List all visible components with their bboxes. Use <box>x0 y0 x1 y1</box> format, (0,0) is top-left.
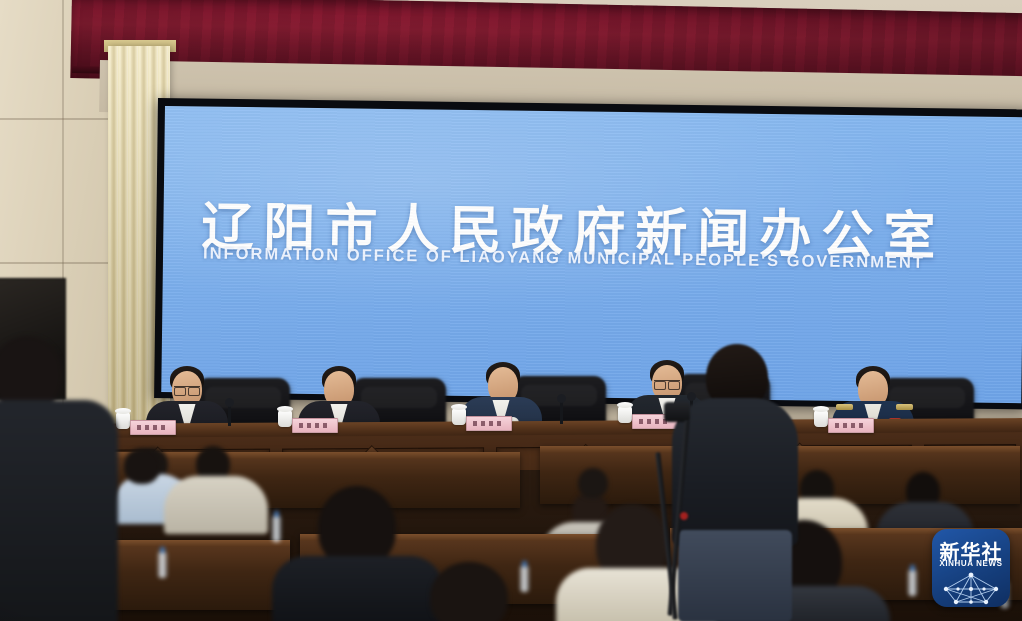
nameplate-text <box>835 423 867 428</box>
nameplate-text <box>299 423 331 428</box>
nameplate-text <box>473 421 505 426</box>
operator-jeans <box>678 530 792 621</box>
teacup <box>278 410 292 427</box>
desk-microphone <box>225 398 234 407</box>
wall-seam <box>0 262 120 264</box>
led-screen: 辽阳市人民政府新闻办公室 INFORMATION OFFICE OF LIAOY… <box>161 106 1022 403</box>
water-bottle <box>520 566 529 592</box>
nameplate <box>466 416 512 431</box>
glasses-icon <box>654 380 680 388</box>
water-bottle <box>272 516 281 542</box>
wall-seam <box>0 118 120 120</box>
nameplate <box>130 420 176 435</box>
watermark-text-english: XINHUA NEWS <box>932 559 1010 568</box>
audience-head <box>578 468 608 498</box>
audience-head <box>0 336 62 410</box>
water-bottle <box>908 570 917 596</box>
desk-microphone <box>557 394 566 403</box>
water-bottle <box>158 552 167 578</box>
xinhua-news-watermark: 新华社 XINHUA NEWS <box>932 529 1010 607</box>
press-conference-photo: 辽阳市人民政府新闻办公室 INFORMATION OFFICE OF LIAOY… <box>0 0 1022 621</box>
audience-body <box>0 400 118 621</box>
desk-microphone <box>687 392 696 401</box>
teacup <box>452 408 466 425</box>
operator-torso <box>672 398 798 546</box>
glasses-icon <box>174 386 200 394</box>
nameplate <box>828 418 874 433</box>
desk-microphone <box>228 404 231 426</box>
teacup <box>618 406 632 423</box>
epaulette <box>836 404 853 410</box>
nameplate <box>292 418 338 433</box>
camera-head <box>664 402 690 422</box>
desk-microphone <box>560 400 563 424</box>
audience-head <box>124 448 160 484</box>
audience-body <box>272 556 444 621</box>
network-graphic-icon <box>936 569 1006 605</box>
epaulette <box>896 404 913 410</box>
tripod-knob <box>680 512 688 520</box>
teacup <box>814 410 828 427</box>
audience-body <box>164 476 268 534</box>
teacup <box>116 412 130 429</box>
nameplate-text <box>137 425 169 430</box>
